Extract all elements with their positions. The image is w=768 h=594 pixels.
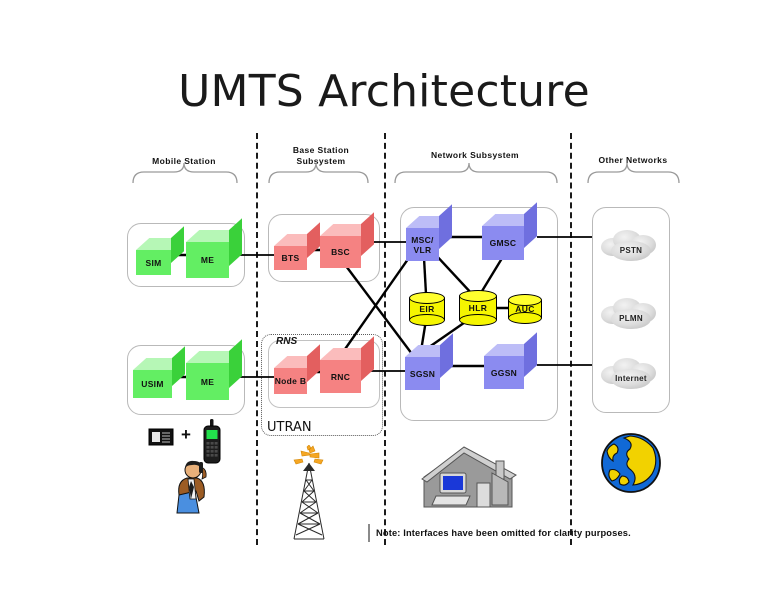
node-hlr[interactable]: HLR <box>459 290 497 326</box>
node-pstn-label: PSTN <box>601 233 661 267</box>
node-me-umts[interactable]: ME <box>186 351 242 400</box>
node-pstn[interactable]: PSTN <box>601 233 661 267</box>
node-nodeb[interactable]: Node B <box>274 356 320 394</box>
divider-bss-network <box>384 133 386 545</box>
node-auc-label: AUC <box>508 294 542 324</box>
node-bsc[interactable]: BSC <box>320 224 374 268</box>
node-me-umts-label: ME <box>186 363 229 400</box>
mobile-phone-icon <box>201 419 223 465</box>
section-label-base-station-subsystem: Base Station Subsystem <box>266 145 376 167</box>
bss-label-line1: Base Station <box>266 145 376 156</box>
node-gmsc[interactable]: GMSC <box>482 214 537 260</box>
divider-mobile-bss <box>256 133 258 545</box>
node-internet[interactable]: Internet <box>601 361 661 395</box>
bss-label-line2: Subsystem <box>266 156 376 167</box>
node-bts[interactable]: BTS <box>274 234 320 270</box>
globe-icon <box>600 432 662 494</box>
sim-card-icon <box>148 428 174 446</box>
node-gmsc-label: GMSC <box>482 226 524 260</box>
node-sgsn-label: SGSN <box>405 357 440 390</box>
note-text: Note: Interfaces have been omitted for c… <box>376 528 631 538</box>
node-msc-vlr[interactable]: MSC/ VLR <box>406 216 452 261</box>
node-internet-label: Internet <box>601 361 661 395</box>
node-bsc-label: BSC <box>320 236 361 268</box>
section-label-network-subsystem: Network Subsystem <box>400 150 550 161</box>
node-bts-label: BTS <box>274 246 307 270</box>
node-sim-label: SIM <box>136 250 171 275</box>
node-eir-label: EIR <box>409 292 445 326</box>
node-sim[interactable]: SIM <box>136 238 184 275</box>
node-ggsn[interactable]: GGSN <box>484 344 537 389</box>
node-ggsn-label: GGSN <box>484 356 524 389</box>
diagram-canvas: UMTS Architecture Mobile Station Base St… <box>0 0 768 594</box>
section-label-mobile-station: Mobile Station <box>126 156 242 167</box>
utran-label: UTRAN <box>267 420 312 435</box>
divider-network-other <box>570 133 572 545</box>
rns-label: RNS <box>276 336 297 347</box>
node-rnc-label: RNC <box>320 360 361 393</box>
node-rnc[interactable]: RNC <box>320 348 374 393</box>
node-plmn[interactable]: PLMN <box>601 301 661 335</box>
node-nodeb-label: Node B <box>274 368 307 394</box>
section-label-other-networks: Other Networks <box>580 155 686 166</box>
node-auc[interactable]: AUC <box>508 294 542 324</box>
node-me-gsm-label: ME <box>186 242 229 278</box>
node-plmn-label: PLMN <box>601 301 661 335</box>
node-usim[interactable]: USIM <box>133 358 185 398</box>
person-on-phone-icon <box>163 455 219 517</box>
page-title: UMTS Architecture <box>0 66 768 117</box>
note-divider-bar <box>368 524 370 542</box>
node-me-gsm[interactable]: ME <box>186 230 242 278</box>
radio-tower-icon <box>288 445 330 543</box>
note-container: Note: Interfaces have been omitted for c… <box>368 524 631 542</box>
node-eir[interactable]: EIR <box>409 292 445 326</box>
house-with-computer-icon <box>420 443 518 517</box>
node-hlr-label: HLR <box>459 290 497 326</box>
node-msc-vlr-label: MSC/ VLR <box>406 228 439 261</box>
node-sgsn[interactable]: SGSN <box>405 345 453 390</box>
plus-icon: + <box>181 425 191 445</box>
node-usim-label: USIM <box>133 370 172 398</box>
